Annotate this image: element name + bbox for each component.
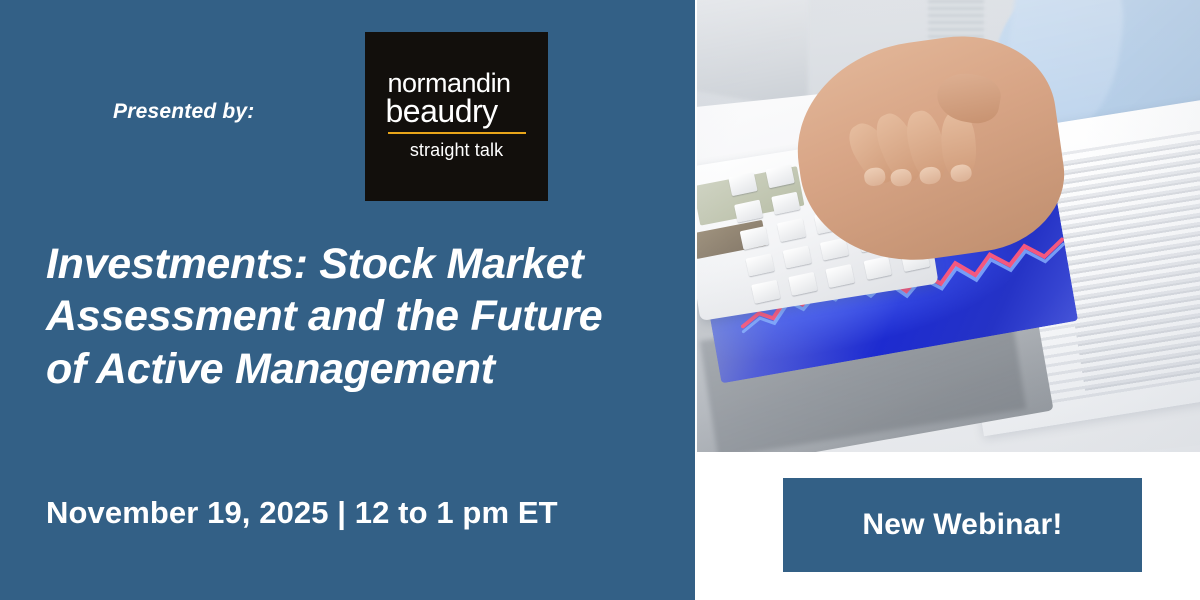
photo-monitor — [697, 0, 808, 110]
left-content-panel: Presented by: normandin beaudry straight… — [0, 0, 695, 600]
photo-calculator-key — [734, 200, 763, 224]
photo-calculator-key — [740, 227, 769, 251]
logo-line-beaudry: beaudry — [386, 97, 528, 125]
photo-thumb — [934, 69, 1004, 127]
logo-tagline: straight talk — [410, 140, 503, 161]
new-webinar-badge[interactable]: New Webinar! — [783, 478, 1142, 572]
webinar-title: Investments: Stock Market Assessment and… — [46, 238, 646, 395]
webinar-promo-banner: Presented by: normandin beaudry straight… — [0, 0, 1200, 600]
photo-calculator-key — [789, 273, 818, 297]
photo-fingernail — [863, 166, 886, 186]
photo-calculator-key — [751, 281, 780, 305]
photo-scene — [697, 0, 1200, 452]
webinar-date-time: November 19, 2025 | 12 to 1 pm ET — [46, 495, 558, 531]
photo-calculator-key — [863, 257, 892, 281]
presented-by-label: Presented by: — [113, 100, 254, 124]
photo-calculator-key — [746, 254, 775, 278]
photo-calculator-key — [728, 173, 757, 197]
hero-photo — [697, 0, 1200, 452]
photo-calculator-key — [766, 165, 795, 189]
photo-calculator-key — [771, 192, 800, 216]
logo-divider-rule — [388, 132, 526, 134]
photo-calculator-key — [777, 219, 806, 243]
photo-calculator-key — [783, 246, 812, 270]
new-webinar-badge-label: New Webinar! — [862, 508, 1062, 542]
normandin-beaudry-logo: normandin beaudry straight talk — [365, 32, 548, 201]
logo-wordmark: normandin beaudry — [386, 72, 528, 125]
photo-calculator-key — [826, 265, 855, 289]
